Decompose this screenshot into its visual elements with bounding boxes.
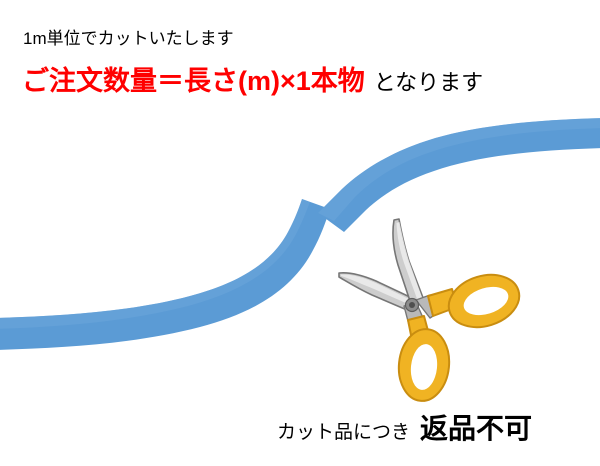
rope-left-body [0,199,330,350]
return-policy-emphasis: 返品不可 [420,413,532,444]
order-formula-suffix: となります [374,70,483,95]
scissors-handle-upper-loop [442,267,525,336]
order-formula-line: ご注文数量＝長さ(m)×1本物となります [22,68,483,95]
scissors-icon [339,219,526,403]
return-policy-prefix: カット品につき [277,422,410,443]
scissors-blade-lower-highlight [341,274,409,303]
order-formula-highlight: ご注文数量＝長さ(m)×1本物 [22,66,365,96]
return-policy-line: カット品につき返品不可 [277,415,532,443]
scissors-pivot-center [409,302,415,308]
promo-graphic-canvas: 1m単位でカットいたします ご注文数量＝長さ(m)×1本物となります カット品に… [0,0,600,466]
rope-left-highlight [0,199,310,329]
cut-unit-note: 1m単位でカットいたします [23,30,234,47]
scissors-handle-lower-loop [395,327,452,404]
rope-right-segment [318,118,600,232]
rope-left-segment [0,199,330,350]
